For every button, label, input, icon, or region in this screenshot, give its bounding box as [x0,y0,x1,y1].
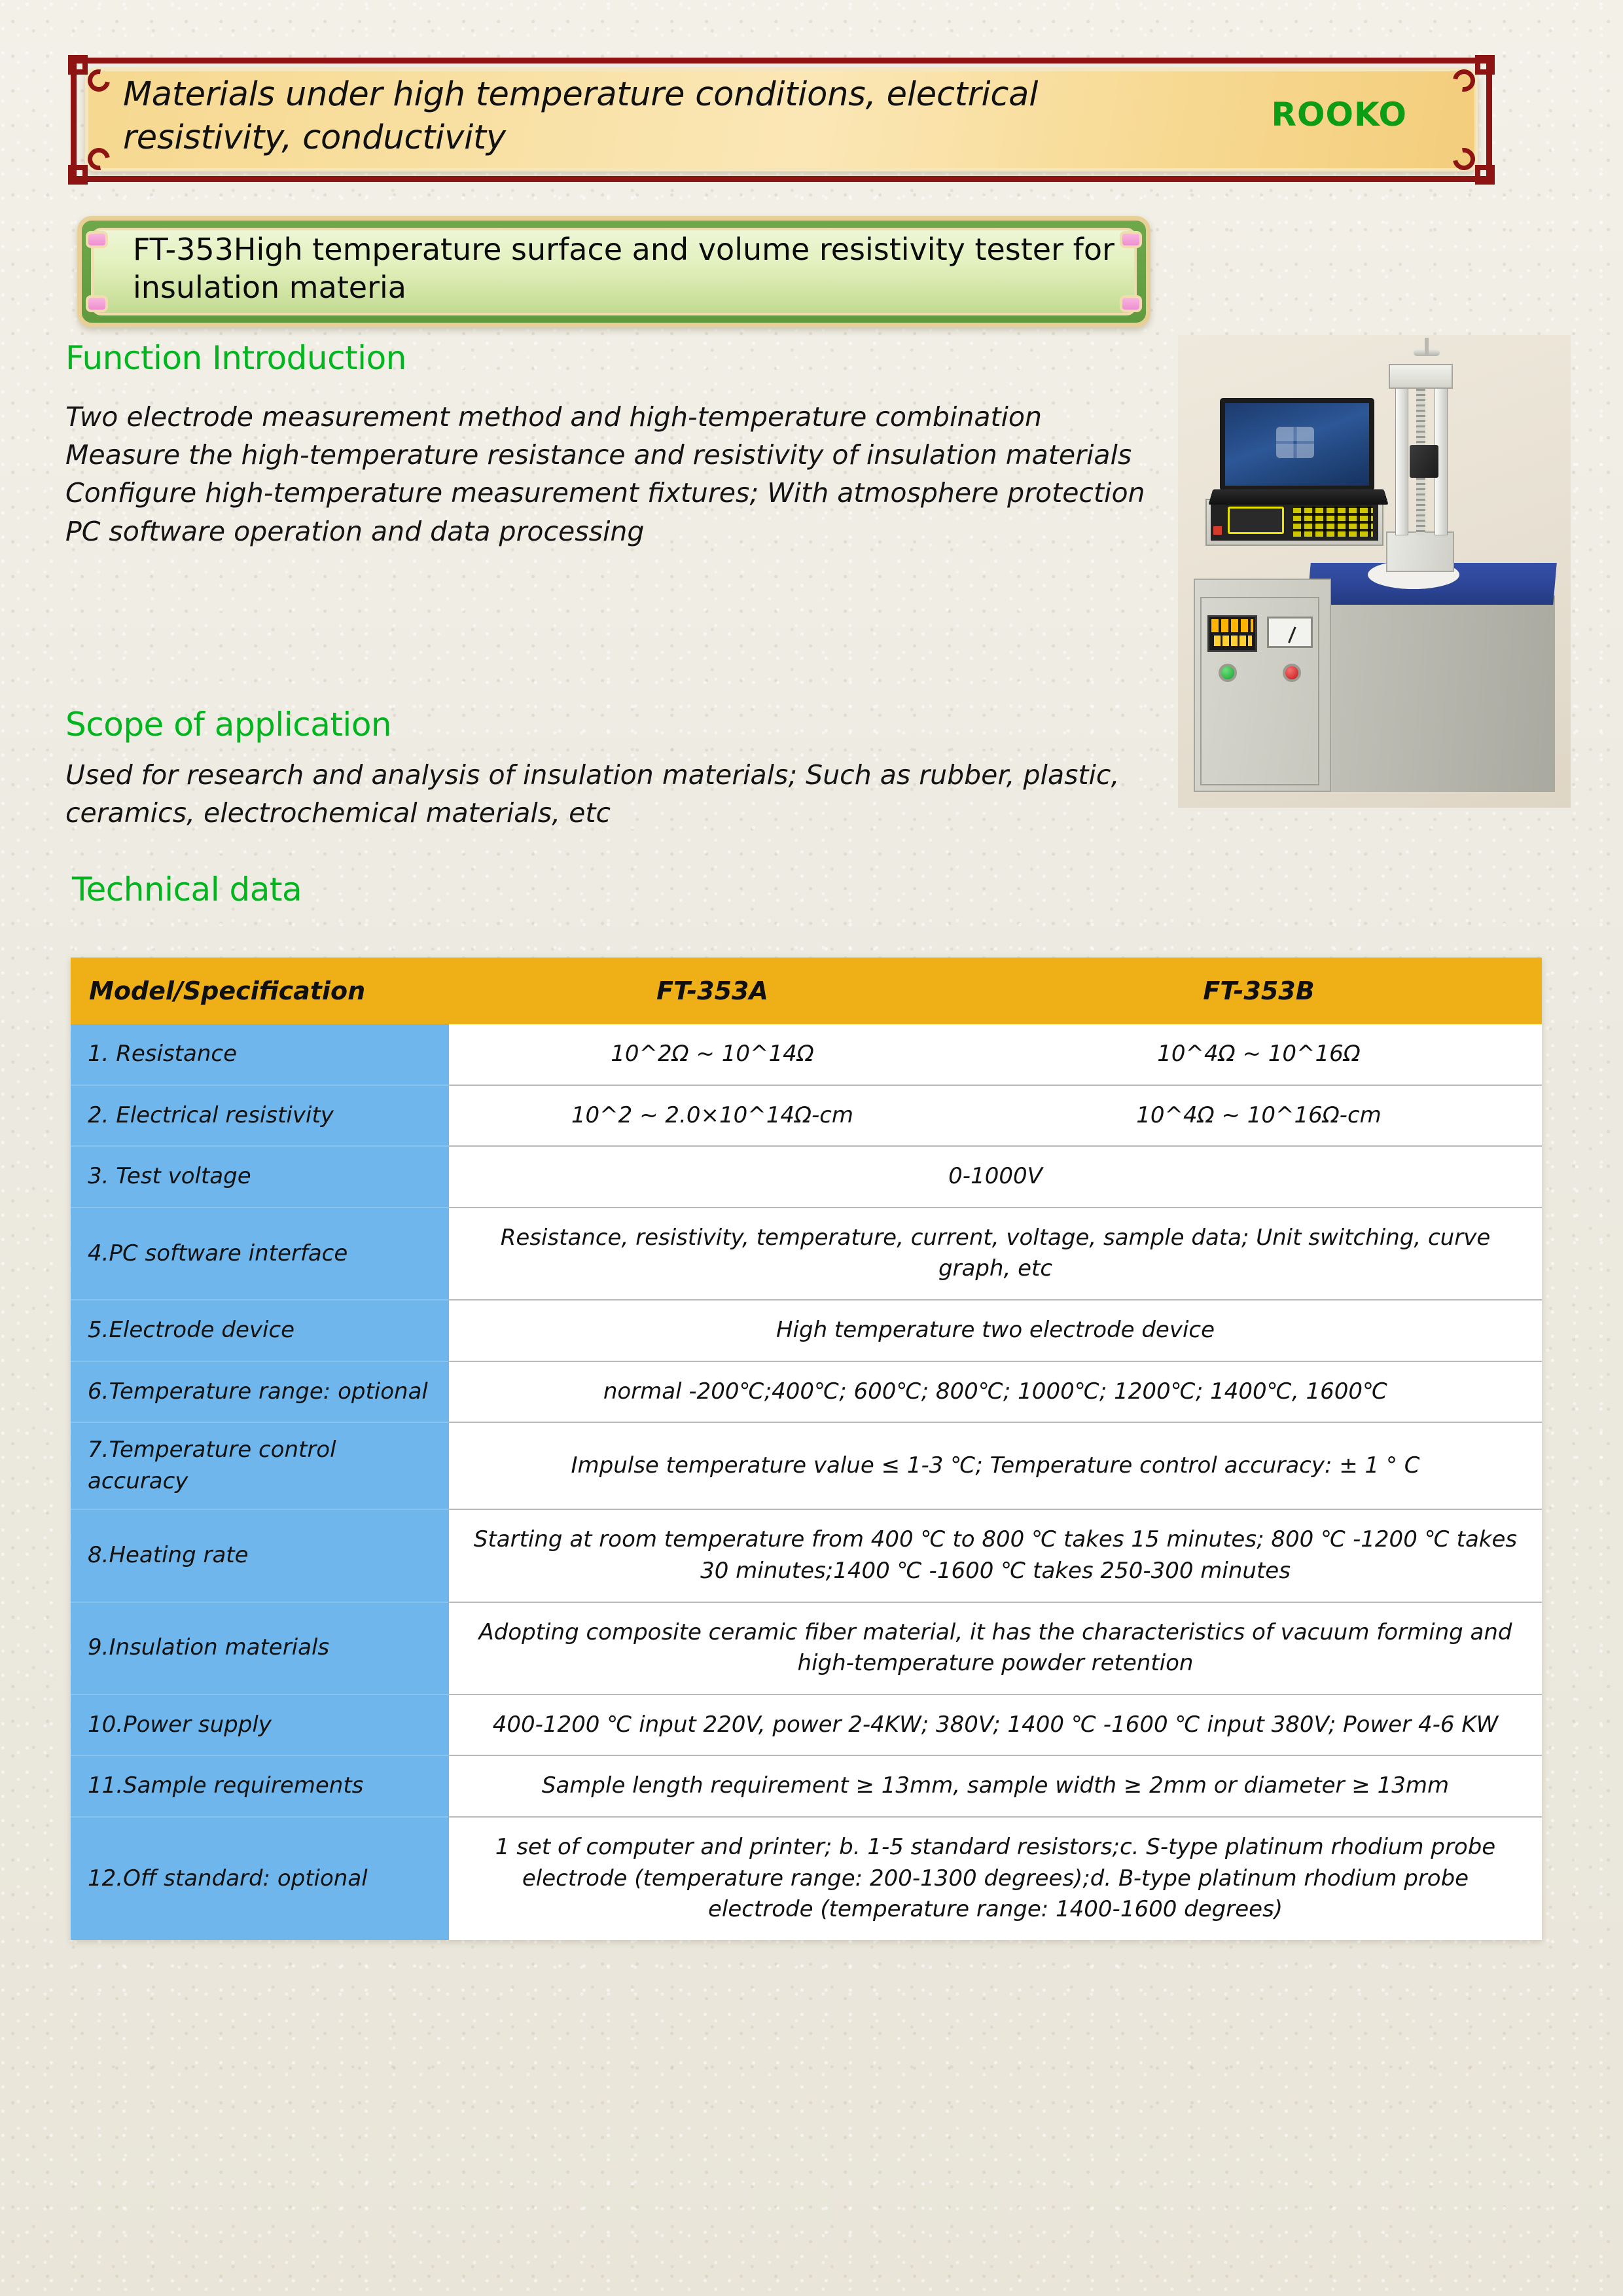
row-value-shared: High temperature two electrode device [449,1300,1542,1361]
corner-ornament-bottom-left-icon [68,134,119,185]
section-heading-technical-data: Technical data [72,870,302,908]
green-start-button-icon [1219,664,1237,682]
row-label: 4.PC software interface [71,1208,449,1300]
row-value-shared: 1 set of computer and printer; b. 1-5 st… [449,1817,1542,1940]
table-row: 9.Insulation materials Adopting composit… [71,1602,1542,1695]
row-value-shared: 0-1000V [449,1146,1542,1208]
row-value-shared: normal -200℃;400℃; 600℃; 800℃; 1000℃; 12… [449,1361,1542,1423]
table-row: 3. Test voltage 0-1000V [71,1146,1542,1208]
laptop-keyboard-icon [1208,489,1388,505]
row-value-b: 10^4Ω ~ 10^16Ω [976,1024,1542,1085]
table-body: 1. Resistance 10^2Ω ~ 10^14Ω 10^4Ω ~ 10^… [71,1024,1542,1940]
column-header-ft-353a: FT-353A [449,958,976,1024]
corner-ornament-top-left-icon [68,55,119,106]
row-value-shared: 400-1200 ℃ input 220V, power 2-4KW; 380V… [449,1695,1542,1756]
row-label: 1. Resistance [71,1024,449,1085]
table-row: 11.Sample requirements Sample length req… [71,1755,1542,1817]
table-row: 7.Temperature control accuracy Impulse t… [71,1422,1542,1509]
table-row: 10.Power supply 400-1200 ℃ input 220V, p… [71,1695,1542,1756]
table-row: 5.Electrode device High temperature two … [71,1300,1542,1361]
section-heading-function-introduction: Function Introduction [65,339,406,377]
function-introduction-body: Two electrode measurement method and hig… [65,398,1178,550]
row-value-shared: Starting at room temperature from 400 ℃ … [449,1509,1542,1602]
row-value-shared: Resistance, resistivity, temperature, cu… [449,1208,1542,1300]
row-value-shared: Adopting composite ceramic fiber materia… [449,1602,1542,1695]
gantry-rail-left-icon [1395,377,1408,535]
page-title: Materials under high temperature conditi… [123,73,1183,160]
analog-ammeter-icon [1267,617,1313,648]
product-photo [1178,335,1571,808]
instrument-display-icon [1228,507,1284,534]
row-value-a: 10^2 ~ 2.0×10^14Ω-cm [449,1085,976,1147]
table-row: 8.Heating rate Starting at room temperat… [71,1509,1542,1602]
table-row: 12.Off standard: optional 1 set of compu… [71,1817,1542,1940]
row-label: 7.Temperature control accuracy [71,1422,449,1509]
row-label: 2. Electrical resistivity [71,1085,449,1147]
scope-of-application-body: Used for research and analysis of insula… [65,756,1126,832]
row-label: 10.Power supply [71,1695,449,1756]
row-label: 5.Electrode device [71,1300,449,1361]
table-row: 6.Temperature range: optional normal -20… [71,1361,1542,1423]
row-label: 11.Sample requirements [71,1755,449,1817]
corner-ornament-top-right-icon [1444,55,1495,106]
row-value-shared: Impulse temperature value ≤ 1-3 ℃; Tempe… [449,1422,1542,1509]
table-row: 2. Electrical resistivity 10^2 ~ 2.0×10^… [71,1085,1542,1147]
row-label: 8.Heating rate [71,1509,449,1602]
red-stop-button-icon [1283,664,1301,682]
gantry-base-icon [1386,531,1454,572]
pin-top-left-icon [86,231,108,248]
led-display-upper-icon [1211,619,1253,632]
windows-logo-icon [1276,427,1314,458]
row-value-shared: Sample length requirement ≥ 13mm, sample… [449,1755,1542,1817]
row-label: 9.Insulation materials [71,1602,449,1695]
instrument-keypad-icon [1293,507,1373,537]
row-label: 12.Off standard: optional [71,1817,449,1940]
table-header-row: Model/Specification FT-353A FT-353B [71,958,1542,1024]
pin-top-right-icon [1120,231,1142,248]
column-header-specification: Model/Specification [71,958,449,1024]
pin-bottom-left-icon [86,295,108,312]
brand-logo: ROOKO [1271,96,1407,134]
column-header-ft-353b: FT-353B [976,958,1542,1024]
gantry-top-plate-icon [1389,364,1453,389]
gold-title-banner: Materials under high temperature conditi… [71,58,1492,182]
table-row: 4.PC software interface Resistance, resi… [71,1208,1542,1300]
section-heading-scope-of-application: Scope of application [65,706,391,744]
gantry-carriage-icon [1410,445,1438,478]
row-value-b: 10^4Ω ~ 10^16Ω-cm [976,1085,1542,1147]
row-value-a: 10^2Ω ~ 10^14Ω [449,1024,976,1085]
row-label: 3. Test voltage [71,1146,449,1208]
product-name-banner: FT-353High temperature surface and volum… [77,216,1150,327]
pin-bottom-right-icon [1120,295,1142,312]
technical-data-table: Model/Specification FT-353A FT-353B 1. R… [71,958,1542,1940]
led-display-lower-icon [1214,636,1252,646]
instrument-power-switch-icon [1213,526,1222,535]
row-label: 6.Temperature range: optional [71,1361,449,1423]
corner-ornament-bottom-right-icon [1444,134,1495,185]
table-row: 1. Resistance 10^2Ω ~ 10^14Ω 10^4Ω ~ 10^… [71,1024,1542,1085]
product-subtitle: FT-353High temperature surface and volum… [133,231,1115,307]
gantry-shaft-icon [1425,338,1429,355]
